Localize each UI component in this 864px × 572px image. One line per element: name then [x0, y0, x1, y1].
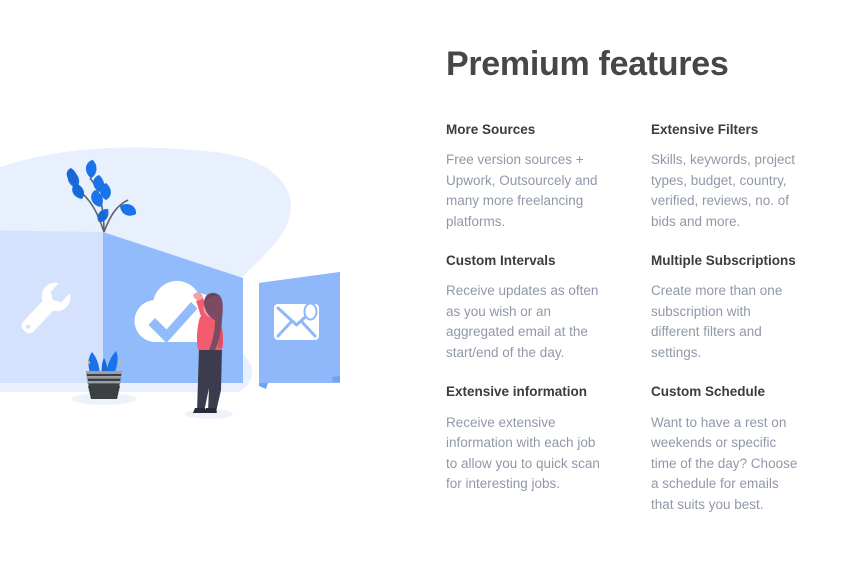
feature-item-custom-intervals: Custom Intervals Receive updates as ofte…: [446, 253, 606, 363]
premium-features-illustration: [0, 0, 400, 572]
panel-left-light: [0, 230, 103, 383]
feature-description: Free version sources + Upwork, Outsource…: [446, 150, 606, 232]
feature-description: Want to have a rest on weekends or speci…: [651, 413, 803, 516]
feature-title: Multiple Subscriptions: [651, 253, 811, 269]
feature-item-multiple-subscriptions: Multiple Subscriptions Create more than …: [651, 253, 811, 363]
feature-title: Custom Schedule: [651, 384, 811, 400]
feature-item-extensive-filters: Extensive Filters Skills, keywords, proj…: [651, 122, 811, 232]
feature-item-custom-schedule: Custom Schedule Want to have a rest on w…: [651, 384, 811, 515]
page-root: Premium features More Sources Free versi…: [0, 0, 864, 572]
feature-item-more-sources: More Sources Free version sources + Upwo…: [446, 122, 606, 232]
panel-right-envelope: [259, 272, 340, 389]
content-column: Premium features More Sources Free versi…: [446, 0, 864, 572]
feature-description: Skills, keywords, project types, budget,…: [651, 150, 803, 232]
envelope-icon: [274, 304, 319, 341]
feature-title: Extensive Filters: [651, 122, 811, 138]
feature-title: Custom Intervals: [446, 253, 606, 269]
page-title: Premium features: [446, 45, 728, 84]
feature-title: More Sources: [446, 122, 606, 138]
features-grid: More Sources Free version sources + Upwo…: [446, 122, 864, 515]
feature-description: Create more than one subscription with d…: [651, 281, 803, 363]
feature-description: Receive updates as often as you wish or …: [446, 281, 606, 363]
feature-description: Receive extensive information with each …: [446, 413, 606, 495]
feature-item-extensive-information: Extensive information Receive extensive …: [446, 384, 606, 515]
feature-title: Extensive information: [446, 384, 606, 400]
